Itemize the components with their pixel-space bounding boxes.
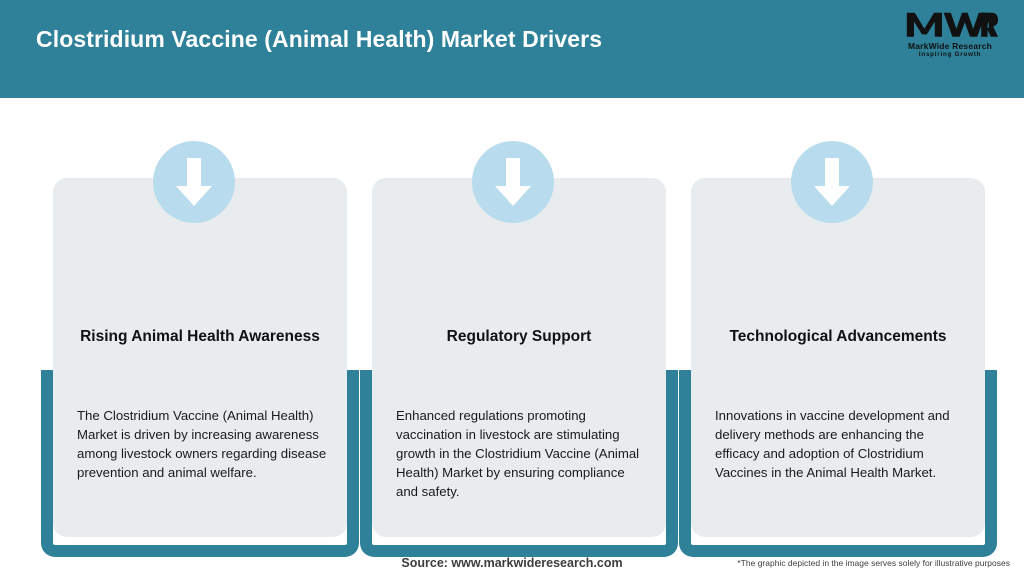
mwr-logo-icon (902, 8, 998, 40)
driver-cards-row: Rising Animal Health Awareness The Clost… (0, 98, 1024, 548)
brand-logo: MarkWide Research Inspiring Growth (894, 8, 1006, 64)
logo-company-name: MarkWide Research (894, 41, 1006, 51)
card-panel: Technological Advancements Innovations i… (691, 178, 985, 537)
arrow-down-icon-badge (791, 141, 873, 223)
card-panel: Regulatory Support Enhanced regulations … (372, 178, 666, 537)
logo-tagline: Inspiring Growth (894, 51, 1006, 59)
card-title: Rising Animal Health Awareness (73, 326, 327, 348)
driver-card-3[interactable]: Technological Advancements Innovations i… (679, 98, 985, 548)
arrow-down-icon (173, 156, 215, 208)
page-title: Clostridium Vaccine (Animal Health) Mark… (36, 26, 602, 53)
card-body-text: The Clostridium Vaccine (Animal Health) … (77, 406, 327, 482)
driver-card-2[interactable]: Regulatory Support Enhanced regulations … (360, 98, 666, 548)
driver-card-1[interactable]: Rising Animal Health Awareness The Clost… (41, 98, 347, 548)
card-body-text: Enhanced regulations promoting vaccinati… (396, 406, 646, 501)
card-body-text: Innovations in vaccine development and d… (715, 406, 965, 482)
card-title: Regulatory Support (392, 326, 646, 348)
disclaimer-label: *The graphic depicted in the image serve… (737, 558, 1010, 568)
card-panel: Rising Animal Health Awareness The Clost… (53, 178, 347, 537)
arrow-down-icon-badge (153, 141, 235, 223)
arrow-down-icon (492, 156, 534, 208)
arrow-down-icon-badge (472, 141, 554, 223)
arrow-down-icon (811, 156, 853, 208)
card-title: Technological Advancements (711, 326, 965, 348)
page-header: Clostridium Vaccine (Animal Health) Mark… (0, 0, 1024, 98)
